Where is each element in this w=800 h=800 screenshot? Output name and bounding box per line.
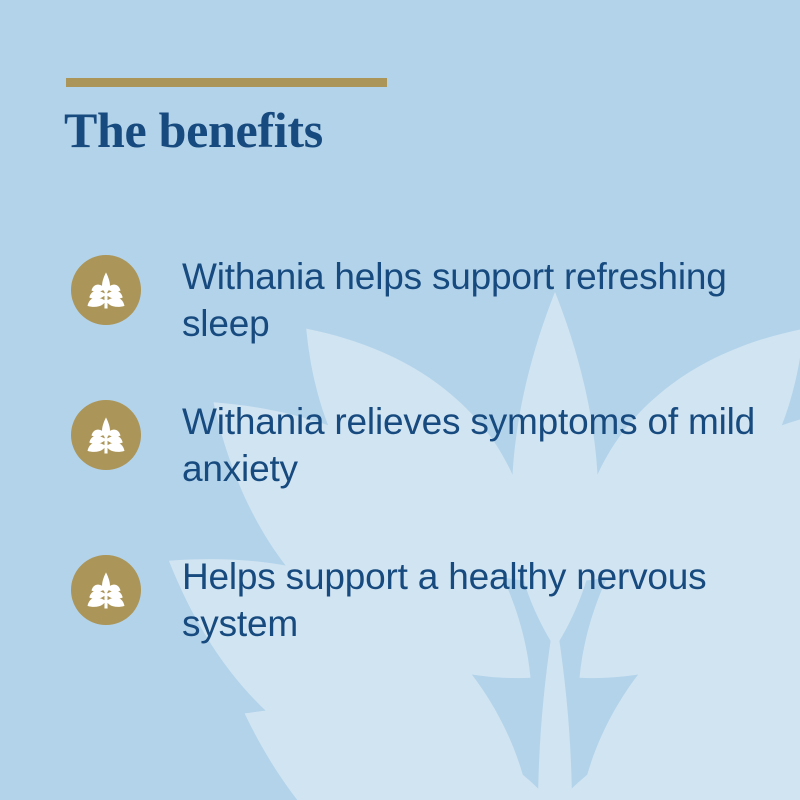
wheat-sheaf-icon — [71, 400, 141, 470]
benefit-text: Withania helps support refreshing sleep — [141, 253, 771, 348]
benefit-text: Withania relieves symptoms of mild anxie… — [141, 398, 771, 493]
gold-rule-divider — [66, 78, 387, 87]
wheat-sheaf-icon — [71, 255, 141, 325]
benefit-text: Helps support a healthy nervous system — [141, 553, 771, 648]
benefit-item: Withania relieves symptoms of mild anxie… — [71, 398, 771, 493]
page-title: The benefits — [64, 103, 323, 158]
benefit-item: Withania helps support refreshing sleep — [71, 253, 771, 348]
wheat-sheaf-icon — [71, 555, 141, 625]
benefits-poster: The benefits — [0, 0, 800, 800]
benefit-item: Helps support a healthy nervous system — [71, 553, 771, 648]
